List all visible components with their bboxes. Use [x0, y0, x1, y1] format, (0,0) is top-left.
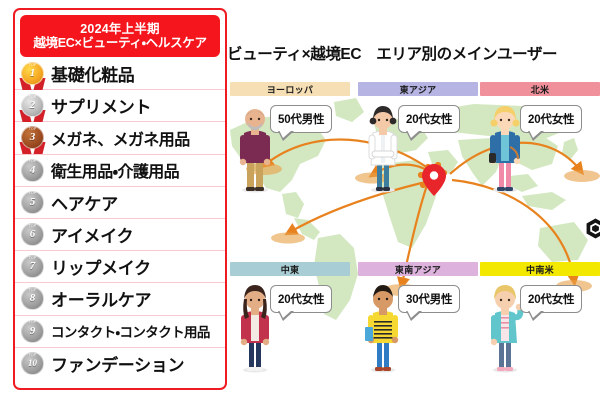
beenos-logo: BEENOS: [585, 218, 600, 239]
ranking-row: TOP5ヘアケア: [15, 187, 225, 219]
ranking-row: TOP3メガネ、メガネ用品: [15, 122, 225, 154]
main-panel: ビューティ×越境EC エリア別のメインユーザー: [227, 0, 600, 405]
rank-item-label: ヘアケア: [51, 190, 118, 215]
region-name-label: 中南米: [480, 262, 600, 276]
rank-number: 6: [30, 229, 36, 240]
region-user-row: 50代男性: [230, 101, 350, 193]
rank-medal-icon: TOP3: [21, 126, 44, 149]
ranking-row: TOP1基礎化粧品: [15, 58, 225, 90]
rank-number: 3: [30, 132, 36, 143]
rank-item-label: アイメイク: [51, 222, 133, 247]
infographic-root: 2024年上半期 越境EC×ビューティ・ヘルスケア TOP1基礎化粧品TOP2サ…: [0, 0, 600, 405]
rank-number: 1: [30, 68, 36, 79]
region-card: 東南アジア30代男性: [358, 262, 478, 373]
rank-number: 2: [30, 100, 36, 111]
rank-item-label: サプリメント: [51, 93, 151, 118]
rank-medal-icon: TOP1: [21, 62, 44, 85]
rank-item-label: メガネ、メガネ用品: [51, 126, 190, 150]
region-card: 東アジア20代女性: [358, 82, 478, 193]
region-card: 北米20代女性: [480, 82, 600, 193]
rank-number: 5: [30, 197, 36, 208]
rank-number: 8: [30, 293, 36, 304]
ranking-header: 2024年上半期 越境EC×ビューティ・ヘルスケア: [20, 15, 220, 57]
rank-medal-icon: TOP2: [21, 94, 44, 117]
page-title: ビューティ×越境EC エリア別のメインユーザー: [227, 42, 600, 64]
rank-medal-icon: TOP9: [21, 320, 44, 343]
ranking-row: TOP9コンタクト・コンタクト用品: [15, 316, 225, 348]
ranking-row: TOP4衛生用品・介護用品: [15, 155, 225, 187]
rank-item-label: オーラルケア: [51, 286, 151, 311]
region-name-label: 中東: [230, 262, 350, 276]
rank-top-tag: TOP: [21, 321, 44, 324]
ranking-panel: 2024年上半期 越境EC×ビューティ・ヘルスケア TOP1基礎化粧品TOP2サ…: [13, 8, 227, 390]
rank-medal-icon: TOP6: [21, 223, 44, 246]
region-name-label: 北米: [480, 82, 600, 96]
ranking-header-line1: 2024年上半期: [80, 22, 159, 36]
rank-item-label: リップメイク: [51, 254, 151, 279]
user-demographic-bubble: 20代女性: [270, 285, 332, 313]
region-name-label: ヨーロッパ: [230, 82, 350, 96]
rank-medal-icon: TOP8: [21, 287, 44, 310]
ranking-header-line2: 越境EC×ビューティ・ヘルスケア: [33, 36, 206, 50]
region-user-row: 20代女性: [358, 101, 478, 193]
user-demographic-bubble: 50代男性: [270, 105, 332, 133]
ranking-row: TOP8オーラルケア: [15, 283, 225, 315]
user-demographic-bubble: 20代女性: [520, 105, 582, 133]
ranking-row: TOP7リップメイク: [15, 251, 225, 283]
user-demographic-bubble: 20代女性: [520, 285, 582, 313]
region-card: 中東20代女性: [230, 262, 350, 373]
rank-medal-icon: TOP10: [21, 352, 44, 375]
rank-number: 10: [28, 359, 37, 368]
rank-item-label: ファンデーション: [51, 351, 184, 376]
rank-medal-icon: TOP7: [21, 255, 44, 278]
rank-item-label: 基礎化粧品: [51, 61, 135, 86]
region-user-row: 20代女性: [480, 281, 600, 373]
ranking-row: TOP6アイメイク: [15, 219, 225, 251]
ranking-list: TOP1基礎化粧品TOP2サプリメントTOP3メガネ、メガネ用品TOP4衛生用品…: [15, 58, 225, 380]
beenos-hexagon-icon: [585, 218, 600, 239]
rank-item-label: コンタクト・コンタクト用品: [51, 321, 210, 341]
rank-top-tag: TOP: [21, 354, 44, 357]
region-name-label: 東アジア: [358, 82, 478, 96]
ranking-row: TOP2サプリメント: [15, 90, 225, 122]
rank-number: 4: [30, 165, 36, 176]
rank-medal-icon: TOP4: [21, 159, 44, 182]
rank-item-label: 衛生用品・介護用品: [51, 158, 179, 182]
rank-medal-icon: TOP5: [21, 191, 44, 214]
region-name-label: 東南アジア: [358, 262, 478, 276]
region-user-row: 20代女性: [230, 281, 350, 373]
region-card: 中南米20代女性: [480, 262, 600, 373]
user-demographic-bubble: 20代女性: [398, 105, 460, 133]
rank-number: 9: [30, 326, 36, 337]
user-demographic-bubble: 30代男性: [398, 285, 460, 313]
rank-number: 7: [30, 261, 36, 272]
region-card: ヨーロッパ50代男性: [230, 82, 350, 193]
region-user-row: 20代女性: [480, 101, 600, 193]
ranking-row: TOP10ファンデーション: [15, 348, 225, 380]
region-user-row: 30代男性: [358, 281, 478, 373]
